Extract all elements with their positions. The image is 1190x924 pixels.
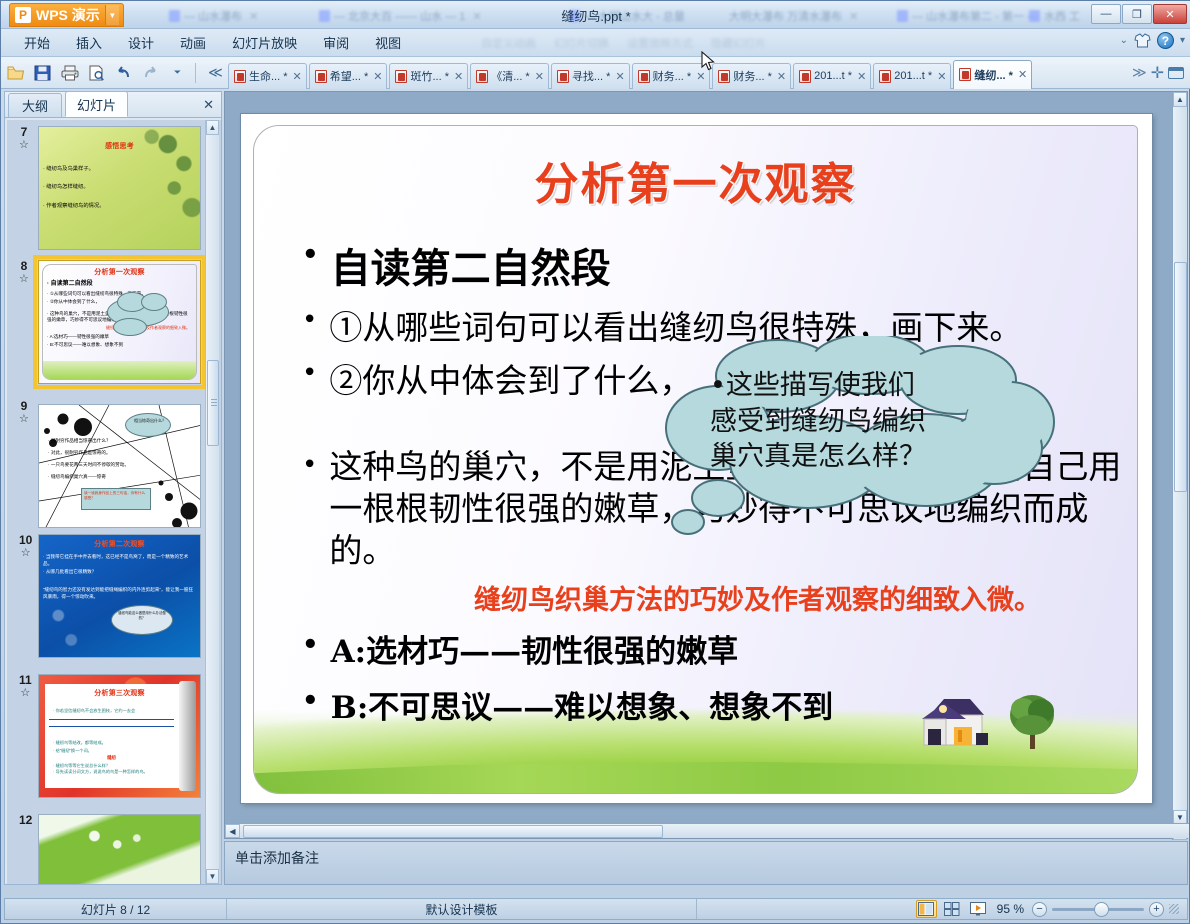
doc-tab-label: 斑竹... * bbox=[410, 68, 449, 84]
bullet-icon: • bbox=[302, 236, 319, 268]
ghost-tab-label: — 山水瀑布 bbox=[184, 8, 242, 24]
thumb-line: 缝纫鸟及鸟巢样子。 bbox=[39, 165, 200, 174]
bullet-icon: • bbox=[302, 354, 317, 386]
doc-tab-label: 201...t * bbox=[894, 70, 932, 82]
ppt-file-icon bbox=[476, 70, 488, 83]
animation-star-icon: ☆ bbox=[19, 547, 32, 559]
notes-pane[interactable]: 单击添加备注 bbox=[224, 841, 1188, 885]
doc-tab-label: 希望... * bbox=[330, 68, 369, 84]
close-icon[interactable]: ✕ bbox=[694, 70, 705, 83]
slide-title[interactable]: 分析第一次观察 bbox=[254, 148, 1137, 212]
bullet-icon: • bbox=[302, 301, 317, 333]
ppt-file-icon bbox=[959, 68, 971, 81]
doc-tab-3[interactable]: 《清... *✕ bbox=[470, 63, 549, 89]
doc-tab-8[interactable]: 201...t *✕ bbox=[873, 63, 951, 89]
ppt-file-icon bbox=[234, 70, 246, 83]
undo-button[interactable] bbox=[111, 60, 136, 86]
shirt-icon[interactable] bbox=[1134, 33, 1151, 48]
close-icon[interactable]: ✕ bbox=[855, 70, 866, 83]
slide-sorter-button[interactable] bbox=[942, 900, 963, 918]
scroll-up-button[interactable]: ▲ bbox=[1173, 92, 1187, 107]
thumb-title: 分析第二次观察 bbox=[39, 535, 200, 549]
ppt-file-icon bbox=[718, 70, 730, 83]
thought-cloud-text[interactable]: •这些描写使我们 感受到缝纫鸟编织 巢穴真是怎么样？ bbox=[710, 368, 1030, 475]
restore-button[interactable]: ❐ bbox=[1122, 4, 1152, 24]
thumb-line: · 缝纫鸟等等它生说总什么样？ bbox=[49, 762, 174, 769]
slide-bullet-3[interactable]: • ②你从中体会到了什么， bbox=[302, 354, 692, 402]
slide-bullet-1[interactable]: • 自读第二自然段 bbox=[302, 236, 611, 294]
normal-view-button[interactable] bbox=[916, 900, 937, 918]
scrollbar-thumb[interactable] bbox=[207, 360, 219, 446]
new-tab-icon[interactable]: ✛ bbox=[1151, 63, 1164, 83]
ghost-tab-label: — 大明山水大 - 总量 bbox=[584, 8, 685, 24]
background-window-tabs: — 山水瀑布✕ — 北京大百 —— 山水 — 1✕ — 大明山水大 - 总量 大… bbox=[169, 1, 1059, 29]
tab-outline[interactable]: 大纲 bbox=[8, 93, 62, 117]
doc-tab-label: 201...t * bbox=[814, 70, 852, 82]
doc-tab-6[interactable]: 财务... *✕ bbox=[712, 63, 791, 89]
thumb-line: · 自读第二自然段 bbox=[43, 279, 196, 290]
slide-bullet-text: ②你从中体会到了什么， bbox=[329, 354, 692, 402]
start-slideshow-button[interactable] bbox=[968, 900, 989, 918]
slide-number: 8☆ bbox=[19, 260, 29, 285]
document-tab-bar: 生命... *✕ 希望... *✕ 斑竹... *✕ 《清... *✕ 寻找..… bbox=[228, 57, 1125, 89]
slide-editing-stage[interactable]: 分析第一次观察 • 自读第二自然段 • ①从哪些词句可以看出缝纫鸟很特殊，画下来… bbox=[224, 91, 1188, 839]
scroll-down-button[interactable]: ▼ bbox=[206, 869, 219, 884]
ppt-file-icon bbox=[315, 70, 327, 83]
animation-star-icon: ☆ bbox=[19, 687, 32, 699]
slide-number: 10☆ bbox=[19, 534, 32, 559]
ppt-file-icon bbox=[879, 70, 891, 83]
scrollbar-grip bbox=[211, 399, 217, 407]
bullet-icon: • bbox=[302, 682, 319, 714]
close-icon[interactable]: ✕ bbox=[371, 70, 382, 83]
doc-tab-label: 寻找... * bbox=[572, 68, 611, 84]
house-graphic bbox=[914, 697, 1000, 753]
list-item[interactable]: 10☆ 分析第二次观察 · 当我带它挂在手中弄去看时，这已经不是鸟窝了，而是一个… bbox=[7, 528, 205, 668]
stage-vertical-scrollbar[interactable]: ▲ ▼ ⯆ bbox=[1172, 92, 1187, 840]
bullet-icon: • bbox=[302, 626, 319, 658]
doc-tab-5[interactable]: 财务... *✕ bbox=[632, 63, 711, 89]
close-icon[interactable]: ✕ bbox=[935, 70, 946, 83]
thumb-cloud-text: 缝纫鸟能这么做是用什么办法做的？ bbox=[117, 611, 167, 621]
thumb-title: 感悟思考 bbox=[39, 127, 200, 151]
thumb-line: · 你若坚信缝纫鸟不会放生困枝，它约一去会 bbox=[49, 707, 174, 714]
tab-slides[interactable]: 幻灯片 bbox=[65, 91, 128, 117]
thumb-line: · B:不可思议——难以想象、想象不到 bbox=[43, 341, 196, 349]
doc-tab-7[interactable]: 201...t *✕ bbox=[793, 63, 871, 89]
wps-presentation-window: — 山水瀑布✕ — 北京大百 —— 山水 — 1✕ — 大明山水大 - 总量 大… bbox=[0, 0, 1190, 924]
ghost-tab-label: 大明大瀑布 万清水瀑布 bbox=[729, 8, 842, 24]
zoom-in-button[interactable]: + bbox=[1149, 902, 1164, 917]
thought-cloud-shape bbox=[113, 318, 147, 336]
thumb-line: · 缝纫鸟编织巢穴真——惊奇 bbox=[44, 469, 196, 481]
slide-thumbnail-list[interactable]: 7☆ 感悟思考 缝纫鸟及鸟巢样子。 缝纫鸟怎样缝纫。 作者观察缝纫鸟的情况。 bbox=[7, 120, 221, 884]
thumbnail-preview[interactable]: 分析第一次观察 · 自读第二自然段 · ①从哪些词句可以看出缝纫鸟很特殊，画下来… bbox=[38, 260, 201, 384]
ghost-tab-label: — 山水瀑布第二 - 第一 — bbox=[912, 8, 1038, 24]
save-button[interactable] bbox=[30, 60, 55, 86]
ppt-file-icon bbox=[395, 70, 407, 83]
current-slide[interactable]: 分析第一次观察 • 自读第二自然段 • ①从哪些词句可以看出缝纫鸟很特殊，画下来… bbox=[241, 114, 1152, 803]
slide-number: 9☆ bbox=[19, 400, 29, 425]
cloud-line-2: 感受到缝纫鸟编织 bbox=[710, 404, 1030, 440]
zoom-level-label: 95 % bbox=[994, 902, 1027, 916]
doc-tab-1[interactable]: 希望... *✕ bbox=[309, 63, 388, 89]
ghost-file-icon bbox=[319, 10, 330, 22]
close-icon[interactable]: ✕ bbox=[775, 70, 786, 83]
thumb-line: 缝纫鸟怎样缝纫。 bbox=[39, 174, 200, 192]
wps-app-button-label: WPS 演示 bbox=[36, 5, 100, 25]
thumb-line: · 很耐穷作品相当惊奇出什么？ bbox=[44, 437, 196, 445]
zoom-slider-handle[interactable] bbox=[1094, 902, 1109, 917]
doc-tab-2[interactable]: 斑竹... *✕ bbox=[389, 63, 468, 89]
ghost-menu-item: 自定义动画 bbox=[481, 35, 536, 51]
zoom-slider[interactable] bbox=[1052, 908, 1144, 911]
ghost-menu-item: 幻灯片切换 bbox=[554, 35, 609, 51]
slide-red-annotation[interactable]: 缝纫鸟织巢方法的巧妙及作者观察的细致入微。 bbox=[474, 578, 1041, 617]
wps-app-button[interactable]: P WPS 演示 ▼ bbox=[9, 3, 124, 27]
slide-number: 12 bbox=[19, 814, 32, 827]
doc-tab-label: 缝纫... * bbox=[974, 67, 1013, 83]
open-file-button[interactable] bbox=[3, 60, 28, 86]
scroll-left-button[interactable]: ◀ bbox=[225, 824, 240, 838]
scrollbar-thumb[interactable] bbox=[243, 825, 663, 838]
chevron-down-icon[interactable]: ▼ bbox=[105, 5, 119, 25]
more-commands-button[interactable]: ⏷ bbox=[165, 60, 190, 86]
menu-item-design[interactable]: 设计 bbox=[115, 29, 167, 56]
resize-grip[interactable] bbox=[1169, 904, 1179, 914]
menu-item-view[interactable]: 视图 bbox=[362, 29, 414, 56]
navigator-tab-bar: 大纲 幻灯片 ✕ bbox=[5, 92, 221, 118]
background-window-menu: 自定义动画 幻灯片切换 设置放映方式 隐藏幻灯片 bbox=[481, 31, 951, 55]
slide-bullet-text: 自读第二自然段 bbox=[331, 236, 611, 294]
thumbnail-preview[interactable]: · 很耐穷作品相当惊奇出什么？ · 对此，很耐穷作品是惊奇的。 · 一只鸟要花两… bbox=[38, 404, 201, 528]
thumbnail-preview[interactable]: 感悟思考 缝纫鸟及鸟巢样子。 缝纫鸟怎样缝纫。 作者观察缝纫鸟的情况。 bbox=[38, 126, 201, 250]
zoom-out-button[interactable]: − bbox=[1032, 902, 1047, 917]
help-icon[interactable]: ? bbox=[1157, 32, 1174, 49]
slide-number: 7☆ bbox=[19, 126, 29, 151]
animation-star-icon: ☆ bbox=[19, 273, 29, 285]
close-icon[interactable]: ✕ bbox=[533, 70, 544, 83]
window-list-icon[interactable] bbox=[1168, 67, 1184, 79]
status-bar: 幻灯片 8 / 12 默认设计模板 95 % − + bbox=[4, 898, 1188, 920]
list-item[interactable]: 7☆ 感悟思考 缝纫鸟及鸟巢样子。 缝纫鸟怎样缝纫。 作者观察缝纫鸟的情况。 bbox=[7, 120, 205, 254]
animation-star-icon: ☆ bbox=[19, 139, 29, 151]
doc-tab-9-active[interactable]: 缝纫... *✕ bbox=[953, 60, 1032, 89]
cloud-line-3: 巢穴真是怎么样？ bbox=[710, 439, 1030, 475]
thought-cloud-shape bbox=[125, 413, 171, 437]
thumb-line: 缝纫 bbox=[49, 754, 174, 762]
slide-canvas[interactable]: 分析第一次观察 • 自读第二自然段 • ①从哪些词句可以看出缝纫鸟很特殊，画下来… bbox=[253, 125, 1138, 794]
tree-graphic bbox=[1006, 689, 1060, 751]
thumb-cloud-text: 相当惊奇出什么？ bbox=[129, 418, 171, 424]
close-icon[interactable]: ✕ bbox=[452, 70, 463, 83]
menu-item-review[interactable]: 审阅 bbox=[310, 29, 362, 56]
ghost-file-icon bbox=[897, 10, 908, 22]
thought-cloud-shape bbox=[141, 293, 167, 311]
doc-tab-label: 《清... * bbox=[491, 68, 530, 84]
ghost-menu-item: 设置放映方式 bbox=[627, 35, 693, 51]
menu-item-insert[interactable]: 插入 bbox=[63, 29, 115, 56]
chevron-down-icon[interactable]: ⌄ bbox=[1120, 35, 1128, 46]
menu-item-slideshow[interactable]: 幻灯片放映 bbox=[219, 29, 310, 56]
view-and-zoom-controls: 95 % − + bbox=[916, 900, 1187, 918]
minimize-button[interactable]: — bbox=[1091, 4, 1121, 24]
title-bar: — 山水瀑布✕ — 北京大百 —— 山水 — 1✕ — 大明山水大 - 总量 大… bbox=[1, 1, 1190, 29]
design-template-label: 默认设计模板 bbox=[227, 899, 697, 919]
ghost-tab-label: 水西 工 bbox=[1044, 8, 1080, 24]
doc-tabs-end-tools: ≫ ✛ bbox=[1125, 63, 1190, 83]
ppt-file-icon bbox=[638, 70, 650, 83]
list-item-selected[interactable]: 8☆ 分析第一次观察 · 自读第二自然段 · ①从哪些词句可以看出缝纫鸟很特殊，… bbox=[7, 254, 205, 394]
ghost-menu-item: 隐藏幻灯片 bbox=[711, 35, 766, 51]
thumb-title: 分析第一次观察 bbox=[43, 265, 196, 277]
window-controls: — ❐ ✕ bbox=[1091, 4, 1187, 24]
close-icon[interactable]: ✕ bbox=[613, 70, 624, 83]
close-button[interactable]: ✕ bbox=[1153, 4, 1187, 24]
menu-item-home[interactable]: 开始 bbox=[11, 29, 63, 56]
ppt-file-icon bbox=[557, 70, 569, 83]
doc-tab-label: 生命... * bbox=[249, 68, 288, 84]
thumb-line: · 导先读读分词文方，说说鸟的鸟是一种怎样的鸟。 bbox=[49, 769, 174, 775]
print-preview-button[interactable] bbox=[84, 60, 109, 86]
list-item[interactable]: 9☆ bbox=[7, 394, 205, 528]
list-item[interactable]: 11☆ 分析第三次观察 · 你若坚信缝纫鸟不会放生困枝，它约一去会 · 缝纫鸟等… bbox=[7, 668, 205, 808]
slide-counter: 幻灯片 8 / 12 bbox=[5, 899, 227, 919]
stage-horizontal-scrollbar[interactable]: ◀ bbox=[225, 823, 1189, 838]
collapse-ribbon-button[interactable]: ≪ bbox=[203, 60, 228, 86]
tab-overflow-icon[interactable]: ≫ bbox=[1132, 64, 1147, 81]
bullet-icon: • bbox=[302, 446, 317, 478]
close-icon[interactable]: ✕ bbox=[291, 70, 302, 83]
close-icon[interactable]: ✕ bbox=[1016, 68, 1027, 81]
slide-bullet-6[interactable]: • B:不可思议——难以想象、想象不到 bbox=[302, 682, 833, 727]
thumbnail-preview[interactable]: 课文以作者在当观记 立按按 三次观察缝纫鸟编织、修补巢穴的情况为主线，同时写 出… bbox=[38, 814, 201, 884]
thumb-red-note: 读一读我身作品上的三句话，你有什么感受？ bbox=[84, 491, 148, 502]
doc-tab-label: 财务... * bbox=[733, 68, 772, 84]
doc-tab-4[interactable]: 寻找... *✕ bbox=[551, 63, 630, 89]
thumb-line: · 对此，很耐穷作品是惊奇的。 bbox=[44, 445, 196, 457]
toolbar-separator bbox=[195, 63, 196, 83]
navigator-scrollbar[interactable]: ▲ ▼ bbox=[205, 120, 219, 884]
ghost-file-icon bbox=[1029, 10, 1040, 22]
ghost-tab-label: — 北京大百 —— 山水 — 1 bbox=[334, 8, 465, 24]
thumb-line: · 缝纫鸟等结改，都等结成。 bbox=[49, 733, 174, 746]
slide-navigator-panel: 大纲 幻灯片 ✕ 7☆ 感悟思考 缝纫鸟及鸟巢样子。 缝纫鸟怎样缝纫。 作者观 bbox=[4, 91, 222, 885]
ghost-file-icon bbox=[569, 10, 580, 22]
print-button[interactable] bbox=[57, 60, 82, 86]
cloud-line-1: •这些描写使我们 bbox=[710, 368, 1030, 404]
doc-tab-label: 财务... * bbox=[653, 68, 692, 84]
chevron-down-icon[interactable]: ▾ bbox=[1180, 35, 1185, 46]
ppt-file-icon bbox=[799, 70, 811, 83]
thumb-line: · 当我带它挂在手中弄去看时，这已经不是鸟窝了，而是一个精致的艺术品。 bbox=[39, 553, 200, 568]
animation-star-icon: ☆ bbox=[19, 413, 29, 425]
ghost-file-icon bbox=[169, 10, 180, 22]
thumb-line: “缝纫鸟的智力还没有发达到能把缝绳编织的内外连剪起来”，能让我一股狂风暴雨，得一… bbox=[39, 576, 200, 601]
scroll-up-button[interactable]: ▲ bbox=[206, 120, 219, 135]
slide-bullet-text: A:选材巧——韧性很强的嫩草 bbox=[331, 626, 739, 671]
menu-item-animation[interactable]: 动画 bbox=[167, 29, 219, 56]
thumb-line: · 从哪几批看出它很精致？ bbox=[39, 568, 200, 576]
slide-bullet-5[interactable]: • A:选材巧——韧性很强的嫩草 bbox=[302, 626, 738, 671]
thumbnail-preview[interactable]: 分析第三次观察 · 你若坚信缝纫鸟不会放生困枝，它约一去会 · 缝纫鸟等结改，都… bbox=[38, 674, 201, 798]
slide-number: 11☆ bbox=[19, 674, 32, 699]
slide-bullet-text: B:不可思议——难以想象、想象不到 bbox=[331, 682, 834, 727]
thumb-line: · 给“缝纫”换一个词。 bbox=[49, 747, 174, 754]
thumb-line: 作者观察缝纫鸟的情况。 bbox=[39, 193, 200, 211]
quick-access-toolbar: ⏷ ≪ 生命... *✕ 希望... *✕ 斑竹... *✕ 《清... *✕ … bbox=[1, 57, 1190, 89]
doc-tab-0[interactable]: 生命... *✕ bbox=[228, 63, 307, 89]
thumb-line: · 一只鸟要花两三天时间不停歇的劳动。 bbox=[44, 457, 196, 469]
menu-bar-right-tools: ⌄ ? ▾ bbox=[1120, 32, 1185, 49]
wps-logo-icon: P bbox=[15, 7, 31, 23]
thought-cloud-shape[interactable]: •这些描写使我们 感受到缝纫鸟编织 巢穴真是怎么样？ bbox=[658, 336, 1076, 536]
redo-button[interactable] bbox=[138, 60, 163, 86]
list-item[interactable]: 12 课文以作者在当观记 立按按 三次观察缝纫鸟编织、修补巢穴的情况为主线，同时… bbox=[7, 808, 205, 884]
thumbnail-preview[interactable]: 分析第二次观察 · 当我带它挂在手中弄去看时，这已经不是鸟窝了，而是一个精致的艺… bbox=[38, 534, 201, 658]
close-panel-icon[interactable]: ✕ bbox=[203, 97, 214, 113]
scrollbar-thumb[interactable] bbox=[1174, 262, 1187, 492]
thumb-title: 分析第三次观察 bbox=[39, 675, 200, 698]
